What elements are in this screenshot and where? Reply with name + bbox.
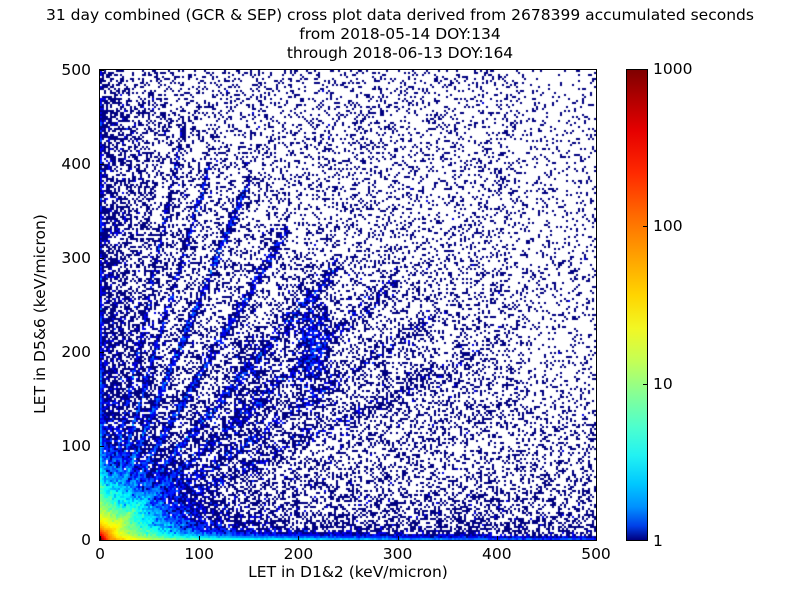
colorbar-tick-mark xyxy=(643,384,648,385)
colorbar-tick-label: 1000 xyxy=(653,60,692,78)
y-tick-mark xyxy=(100,446,104,447)
y-axis-label: LET in D5&6 (keV/micron) xyxy=(31,78,49,550)
y-tick-mark xyxy=(100,70,104,71)
x-axis-label: LET in D1&2 (keV/micron) xyxy=(99,563,597,581)
y-tick-label: 500 xyxy=(41,61,91,79)
x-tick-label: 100 xyxy=(184,545,214,563)
x-tick-label: 500 xyxy=(581,545,611,563)
colorbar-tick-mark xyxy=(643,226,648,227)
colorbar-gradient xyxy=(627,70,647,540)
title-line-2: from 2018-05-14 DOY:134 xyxy=(0,25,800,44)
plot-area xyxy=(99,69,597,541)
colorbar-tick-label: 1 xyxy=(653,532,663,550)
colorbar-tick-label: 100 xyxy=(653,217,683,235)
x-tick-label: 300 xyxy=(383,545,413,563)
x-tick-mark xyxy=(497,536,498,540)
x-tick-mark xyxy=(596,536,597,540)
y-tick-mark xyxy=(100,258,104,259)
x-tick-label: 200 xyxy=(284,545,314,563)
x-tick-mark xyxy=(199,536,200,540)
plot-title: 31 day combined (GCR & SEP) cross plot d… xyxy=(0,6,800,63)
y-tick-mark xyxy=(100,164,104,165)
y-tick-mark xyxy=(100,540,104,541)
x-tick-mark xyxy=(298,536,299,540)
colorbar-tick-label: 10 xyxy=(653,375,673,393)
x-tick-label: 400 xyxy=(482,545,512,563)
y-tick-mark xyxy=(100,352,104,353)
colorbar xyxy=(626,69,648,541)
figure-canvas: 31 day combined (GCR & SEP) cross plot d… xyxy=(0,0,800,600)
x-tick-label: 0 xyxy=(95,545,105,563)
x-tick-mark xyxy=(398,536,399,540)
density-scatter-plot xyxy=(100,70,596,540)
title-line-1: 31 day combined (GCR & SEP) cross plot d… xyxy=(0,6,800,25)
